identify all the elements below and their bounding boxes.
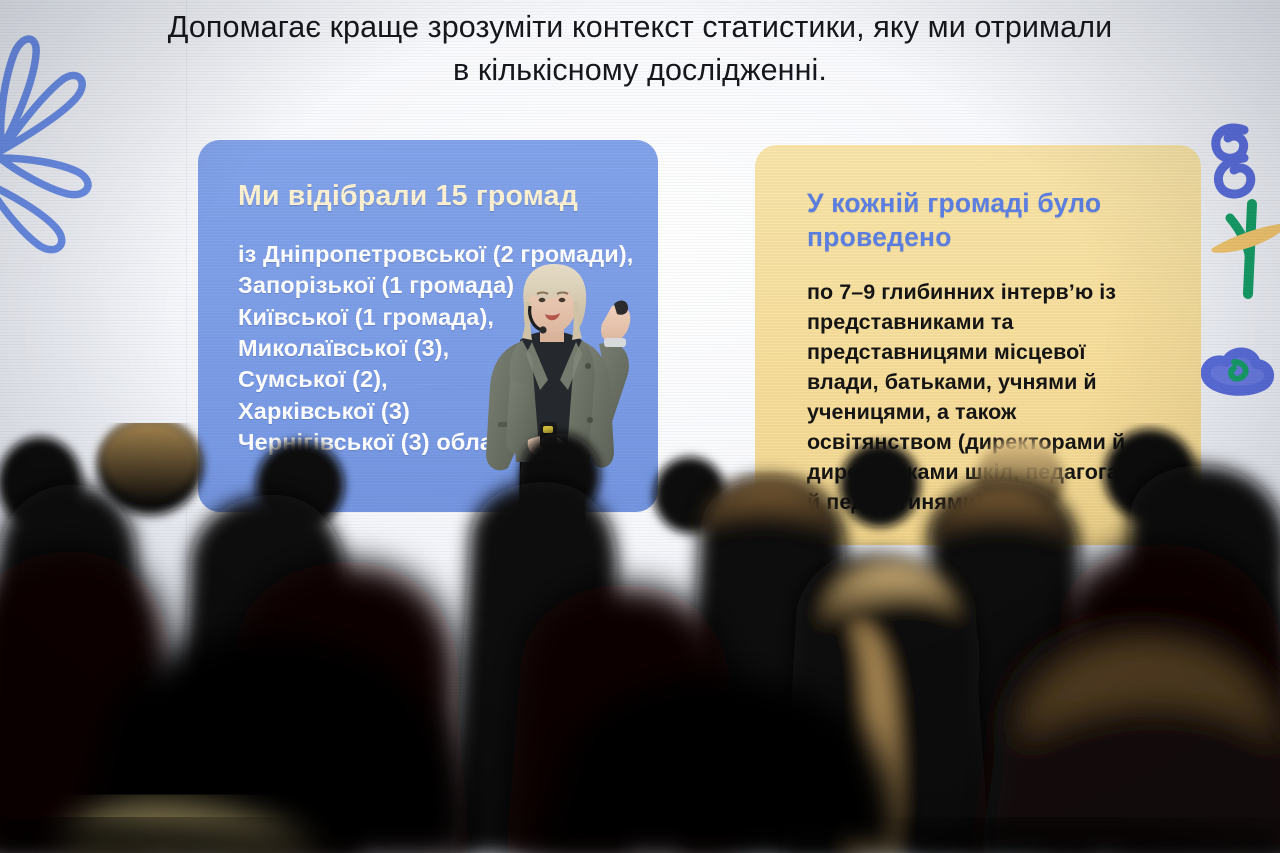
- presentation-photo: Допомагає краще зрозуміти контекст стати…: [0, 0, 1280, 853]
- yellow-card-title-line: проведено: [807, 221, 1171, 255]
- yellow-card-line: директорками шкіл, педагогами: [807, 457, 1171, 487]
- yellow-card-body: по 7–9 глибинних інтерв’ю із представник…: [807, 277, 1171, 518]
- yellow-card-line: представниками та: [807, 307, 1171, 337]
- presenter-on-stage: [436, 262, 676, 562]
- yellow-card-line: влади, батьками, учнями й: [807, 367, 1171, 397]
- slide-heading: Допомагає краще зрозуміти контекст стати…: [70, 6, 1210, 93]
- slide-card-yellow: У кожній громаді було проведено по 7–9 г…: [755, 145, 1201, 545]
- heading-line-1: Допомагає краще зрозуміти контекст стати…: [168, 10, 1112, 44]
- yellow-card-title: У кожній громаді було проведено: [807, 187, 1171, 255]
- yellow-card-line: освітянством (директорами й: [807, 427, 1171, 457]
- yellow-card-line: ученицями, а також: [807, 397, 1171, 427]
- heading-line-2: в кількісному дослідженні.: [70, 49, 1210, 92]
- blue-card-title: Ми відібрали 15 громад: [238, 180, 632, 213]
- multicolor-doodle-decoration: [1190, 118, 1280, 448]
- yellow-card-line: по 7–9 глибинних інтерв’ю із: [807, 277, 1171, 307]
- screen-panel-seam: [186, 0, 187, 853]
- yellow-card-line: представницями місцевої: [807, 337, 1171, 367]
- yellow-card-title-line: У кожній громаді було: [807, 187, 1171, 221]
- yellow-card-line: й педагогинями): [807, 487, 1171, 517]
